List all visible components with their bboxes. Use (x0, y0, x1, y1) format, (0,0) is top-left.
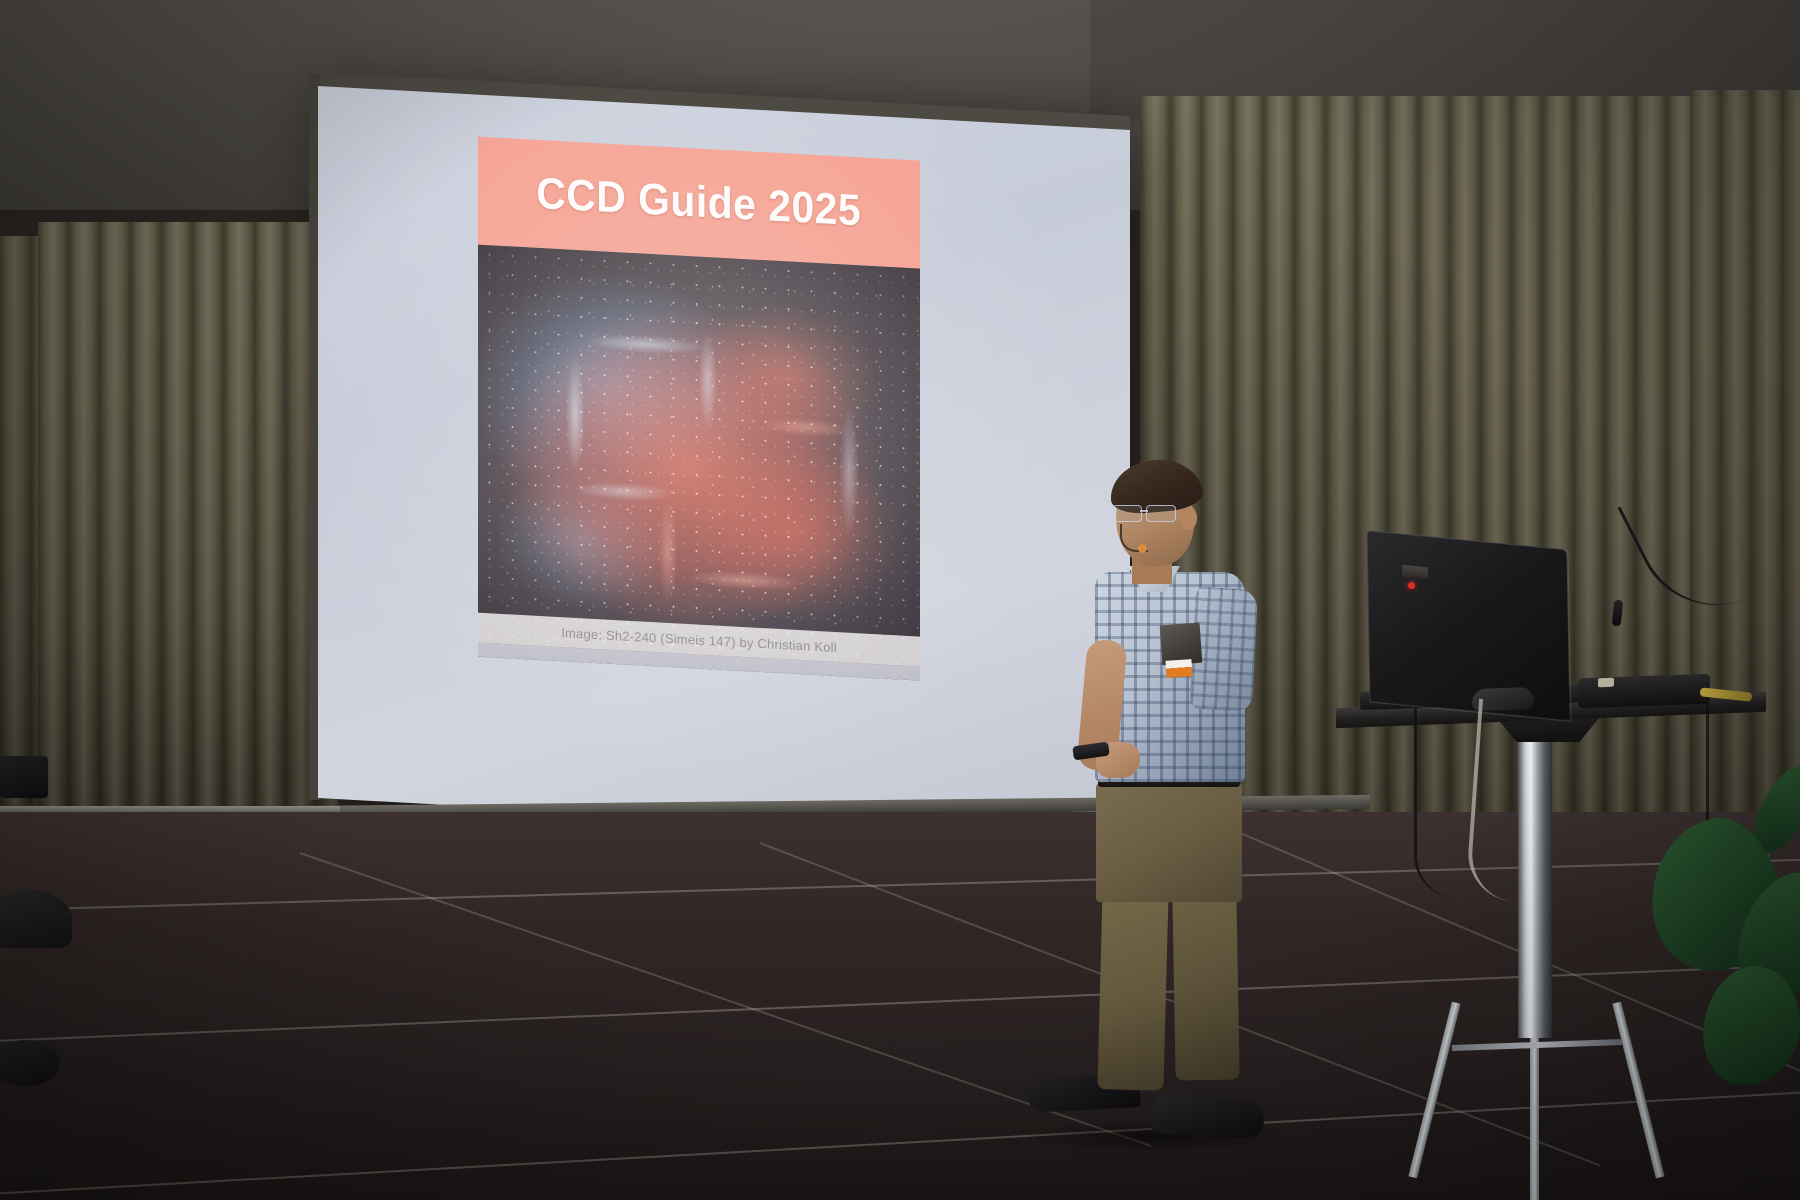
eyeglass-lens-right (1146, 505, 1176, 522)
tripod-leg-center (1530, 1030, 1539, 1200)
power-indicator-icon (1408, 582, 1415, 589)
floor-speaker (0, 756, 48, 798)
cable-black-left (1414, 708, 1457, 898)
curtain-left (38, 222, 338, 822)
presenter-leg-left (1097, 889, 1168, 1091)
eyeglasses-icon (1112, 505, 1186, 521)
presenter-leg-right (1172, 889, 1239, 1080)
tripod-pole (1518, 738, 1552, 1038)
eyeglass-lens-left (1112, 505, 1142, 522)
projected-slide: CCD Guide 2025 Image: Sh2-240 (Simeis 14… (478, 137, 920, 681)
presenter-trousers (1096, 782, 1242, 902)
presentation-room-photo: CCD Guide 2025 Image: Sh2-240 (Simeis 14… (0, 0, 1800, 1200)
eyeglass-bridge (1140, 510, 1148, 512)
slide-title: CCD Guide 2025 (537, 169, 862, 237)
projection-screen: CCD Guide 2025 Image: Sh2-240 (Simeis 14… (318, 86, 1130, 842)
badge-logo-icon (1165, 659, 1192, 678)
presenter-shoe-right (1151, 1095, 1265, 1139)
floor-grout-line (300, 852, 1152, 1147)
laptop-lid-edge (1367, 530, 1572, 722)
headset-microphone-capsule (1138, 544, 1147, 553)
nebula-vignette (478, 245, 920, 681)
slide-nebula-image: Image: Sh2-240 (Simeis 147) by Christian… (478, 245, 920, 681)
usb-hub-indicator (1598, 678, 1614, 688)
